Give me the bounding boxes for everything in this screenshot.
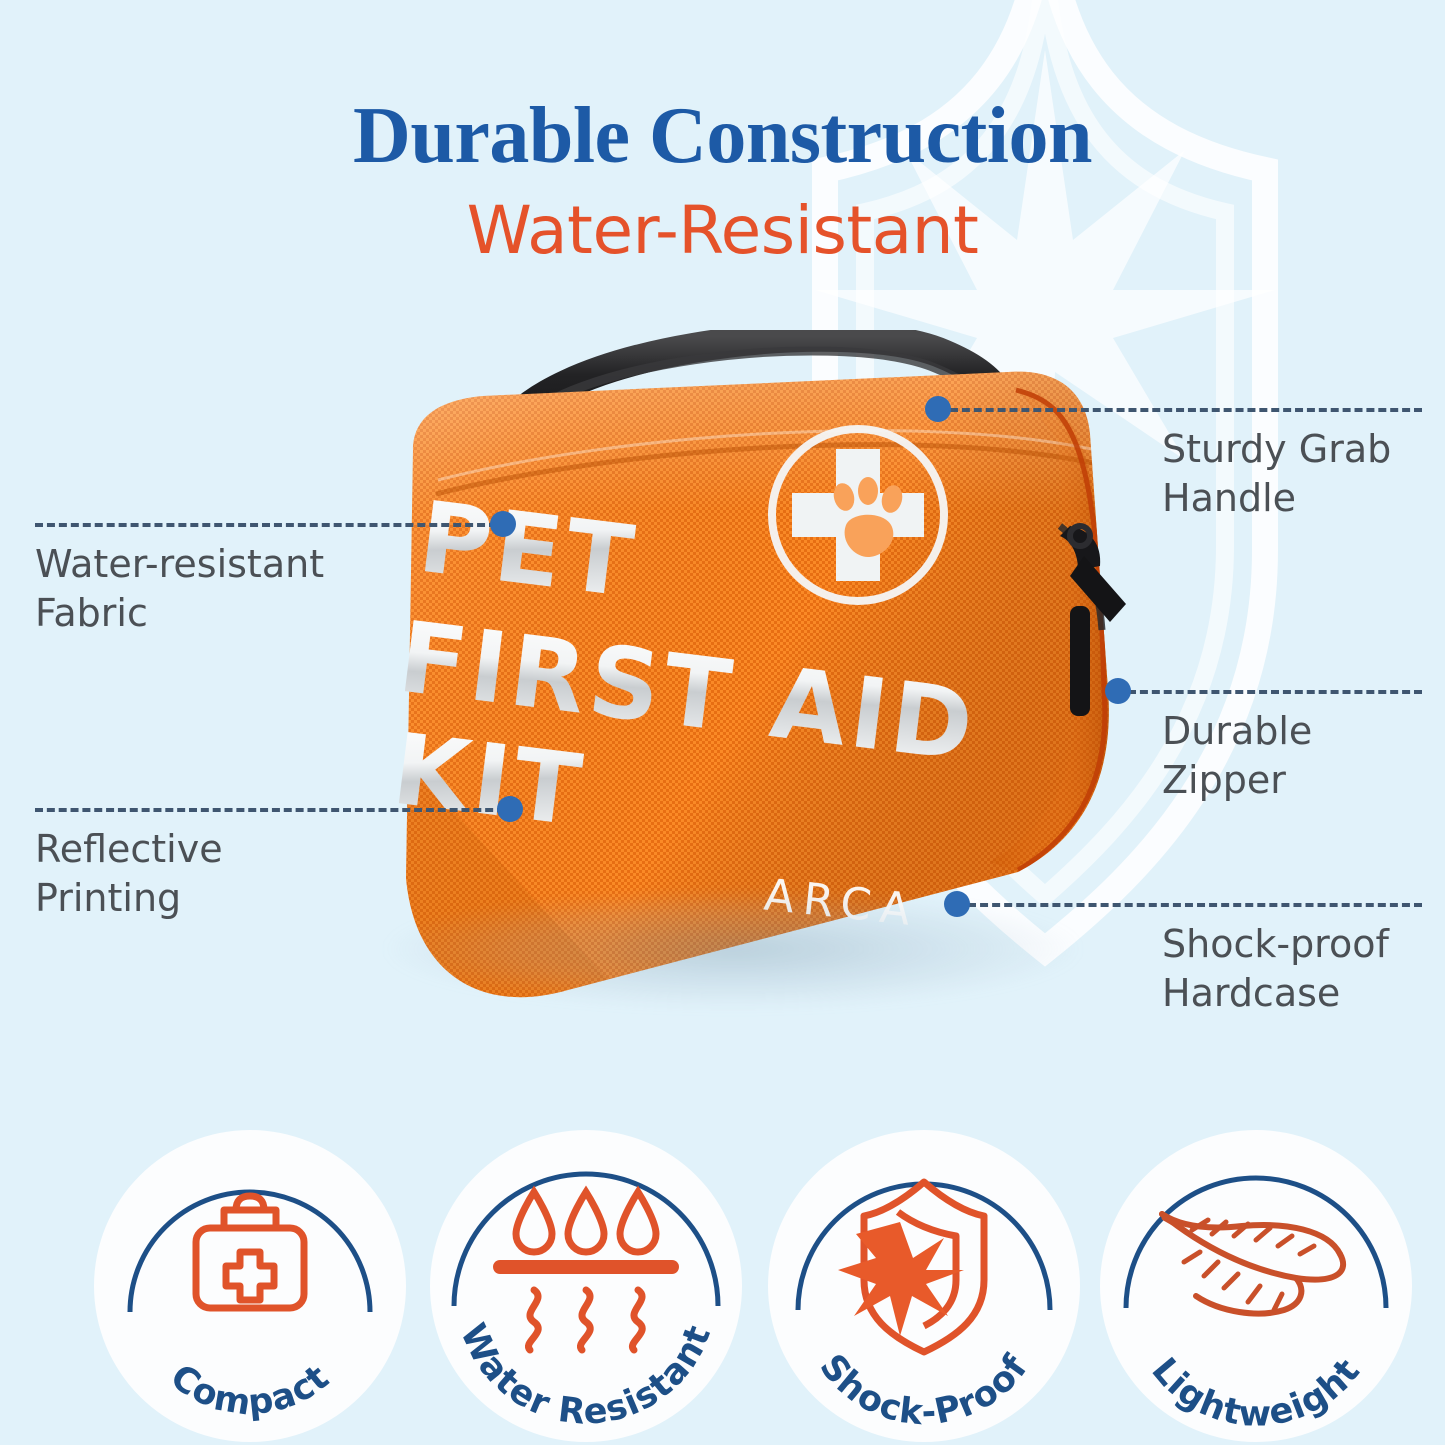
infographic-canvas: Durable Construction Water-Resistant xyxy=(0,0,1445,1445)
feature-badge-shock-proof[interactable]: Shock-Proof xyxy=(768,1130,1080,1442)
callout-dot-reflective-printing xyxy=(497,796,523,822)
header-block: Durable Construction Water-Resistant xyxy=(0,96,1445,264)
svg-text:Compact: Compact xyxy=(163,1357,338,1424)
callout-line-sturdy-grab-handle xyxy=(950,408,1422,412)
callout-dot-shock-proof-hardcase xyxy=(944,891,970,917)
water-droplets-icon xyxy=(500,1192,672,1350)
badge-label: Lightweight xyxy=(1143,1351,1368,1435)
callout-shock-proof-hardcase: Shock-proof Hardcase xyxy=(1162,920,1445,1019)
page-title: Durable Construction xyxy=(0,96,1445,176)
svg-text:Shock-Proof: Shock-Proof xyxy=(811,1347,1036,1433)
badge-label: Shock-Proof xyxy=(811,1347,1036,1433)
callout-line-durable-zipper xyxy=(1128,690,1422,694)
feature-badge-water-resistant[interactable]: Water Resistant xyxy=(430,1130,742,1442)
feather-icon xyxy=(1162,1214,1343,1314)
callout-line-reflective-printing xyxy=(35,808,505,812)
callout-label: Shock-proof Hardcase xyxy=(1162,920,1445,1019)
callout-label: Sturdy Grab Handle xyxy=(1162,425,1445,524)
callout-durable-zipper: Durable Zipper xyxy=(1162,707,1445,806)
callout-line-water-resistant-fabric xyxy=(35,523,497,527)
callout-sturdy-grab-handle: Sturdy Grab Handle xyxy=(1162,425,1445,524)
callout-dot-water-resistant-fabric xyxy=(490,511,516,537)
badge-label: Compact xyxy=(163,1357,338,1424)
svg-text:KIT: KIT xyxy=(387,713,591,849)
feature-badge-row: Compact xyxy=(0,1120,1445,1440)
callout-dot-sturdy-grab-handle xyxy=(925,396,951,422)
product-image: PET FIRST AID KIT ARCA xyxy=(318,330,1148,1050)
callout-label: Reflective Printing xyxy=(35,825,395,924)
svg-text:Lightweight: Lightweight xyxy=(1143,1351,1368,1435)
impact-star xyxy=(838,1222,964,1336)
callout-dot-durable-zipper xyxy=(1105,678,1131,704)
product-shadow xyxy=(388,890,1078,1008)
medical-cross-paw-badge xyxy=(772,429,944,601)
callout-reflective-printing: Reflective Printing xyxy=(35,825,395,924)
page-subtitle: Water-Resistant xyxy=(0,198,1445,264)
first-aid-kit-icon xyxy=(196,1196,304,1308)
callout-line-shock-proof-hardcase xyxy=(968,903,1422,907)
callout-label: Water-resistant Fabric xyxy=(35,540,395,639)
callout-water-resistant-fabric: Water-resistant Fabric xyxy=(35,540,395,639)
feature-badge-compact[interactable]: Compact xyxy=(94,1130,406,1442)
feature-badge-lightweight[interactable]: Lightweight xyxy=(1100,1130,1412,1442)
callout-label: Durable Zipper xyxy=(1162,707,1445,806)
